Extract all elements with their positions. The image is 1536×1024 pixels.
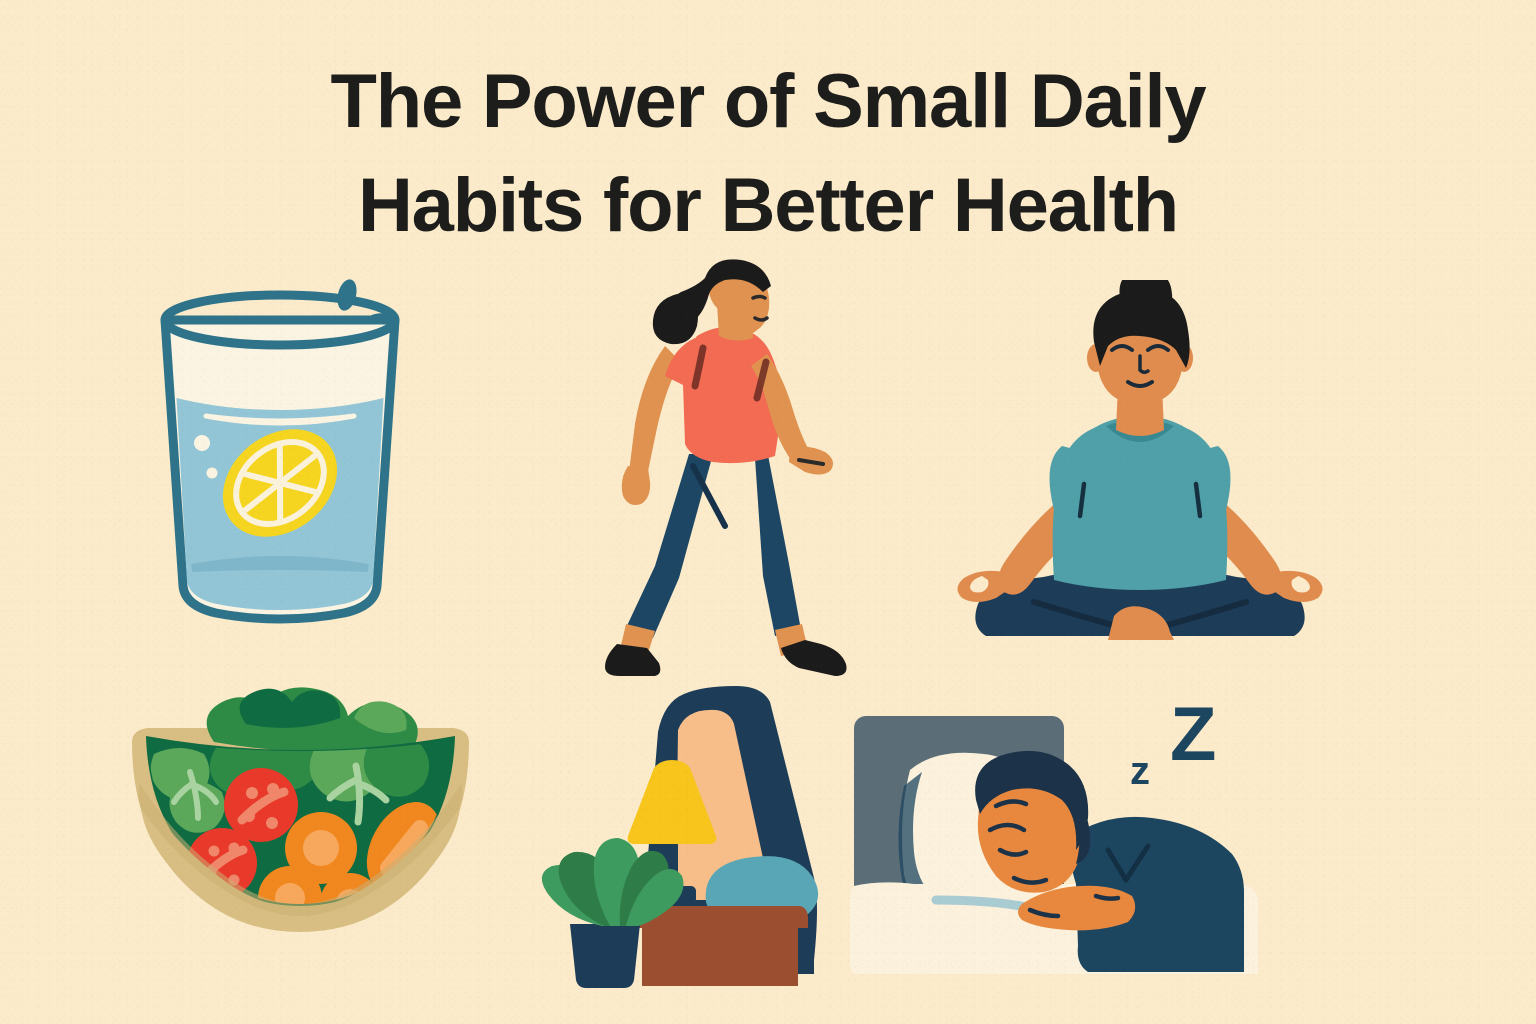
water-bottom-shading (192, 560, 368, 568)
eye (753, 297, 765, 299)
title-line-2: Habits for Better Health (0, 154, 1536, 258)
back-hand (622, 466, 650, 505)
poster-canvas: The Power of Small Daily Habits for Bett… (0, 0, 1536, 1024)
back-shoe (605, 644, 660, 676)
bedroom-nightstand-illustration (530, 680, 830, 992)
salad-bowl-illustration (118, 650, 483, 950)
hand-crease-2 (1096, 896, 1118, 899)
mouth (755, 318, 767, 320)
sleep-z-small: z (1130, 749, 1150, 793)
nightstand-body (642, 928, 798, 986)
lettuce-leaves-top (207, 687, 418, 752)
sleep-z-large: Z (1170, 692, 1216, 777)
hair-bun (653, 294, 698, 344)
bubble-icon (194, 435, 210, 451)
title-line-1: The Power of Small Daily (0, 50, 1536, 154)
bubble-icon (207, 468, 218, 479)
meditating-woman-illustration (930, 280, 1350, 640)
front-leg (725, 450, 801, 636)
water-glass-illustration (120, 268, 430, 638)
page-title: The Power of Small Daily Habits for Bett… (0, 50, 1536, 258)
front-shoe (781, 640, 847, 676)
plant-pot (570, 924, 640, 988)
sleeping-person-illustration: Z z (840, 688, 1264, 990)
walking-woman-illustration (585, 258, 875, 678)
